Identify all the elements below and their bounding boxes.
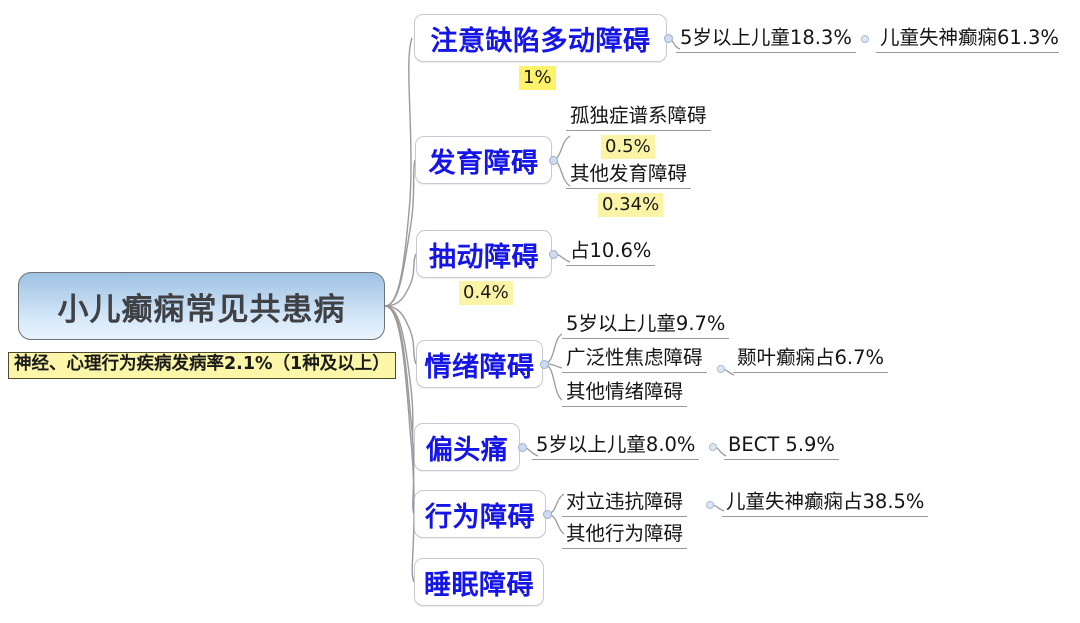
branch-label: 情绪障碍 [425,345,535,384]
branch-node-tic[interactable]: 抽动障碍 [416,230,552,278]
leaf-node[interactable]: 其他行为障碍 [562,521,687,549]
connector-dot[interactable] [518,443,527,452]
branch-node-developmental[interactable]: 发育障碍 [415,136,552,184]
branch-node-emotional[interactable]: 情绪障碍 [416,340,543,388]
leaf-node[interactable]: 其他情绪障碍 [562,379,687,407]
branch-label: 行为障碍 [425,495,535,534]
branch-node-adhd[interactable]: 注意缺陷多动障碍 [414,14,667,62]
leaf-node[interactable]: BECT 5.9% [724,432,839,460]
connector-dot[interactable] [540,360,549,369]
root-node[interactable]: 小儿癫痫常见共患病 [18,272,385,340]
badge-other-dev-rate: 0.34% [598,193,663,217]
badge-adhd-rate: 1% [519,66,556,90]
branch-node-behavioral[interactable]: 行为障碍 [414,490,546,538]
root-subtitle-badge: 神经、心理行为疾病发病率2.1%（1种及以上） [8,352,396,379]
branch-node-migraine[interactable]: 偏头痛 [414,423,520,471]
leaf-node[interactable]: 颞叶癫痫占6.7% [733,345,888,373]
branch-label: 睡眠障碍 [424,563,534,602]
leaf-node[interactable]: 孤独症谱系障碍 [566,103,711,131]
branch-label: 偏头痛 [426,428,509,467]
connector-dot[interactable] [706,501,714,509]
leaf-node[interactable]: 占10.6% [566,238,655,266]
branch-node-sleep[interactable]: 睡眠障碍 [414,558,544,606]
leaf-node[interactable]: 5岁以上儿童18.3% [676,25,856,53]
leaf-node[interactable]: 对立违抗障碍 [562,489,687,517]
leaf-node[interactable]: 5岁以上儿童8.0% [532,432,699,460]
root-title: 小儿癫痫常见共患病 [58,284,346,329]
branch-label: 发育障碍 [429,141,539,180]
mindmap-canvas: 小儿癫痫常见共患病 神经、心理行为疾病发病率2.1%（1种及以上） 注意缺陷多动… [0,0,1080,623]
badge-asd-rate: 0.5% [601,135,655,159]
connector-dot[interactable] [664,34,673,43]
leaf-node[interactable]: 其他发育障碍 [566,161,691,189]
leaf-node[interactable]: 儿童失神癫痫61.3% [876,25,1059,53]
connector-dot[interactable] [861,35,869,43]
branch-label: 注意缺陷多动障碍 [431,19,651,58]
connector-dot[interactable] [549,250,558,259]
badge-tic-rate: 0.4% [459,281,513,305]
branch-label: 抽动障碍 [429,235,539,274]
leaf-node[interactable]: 广泛性焦虑障碍 [562,345,707,373]
connector-dot[interactable] [543,510,552,519]
connector-dot[interactable] [549,156,558,165]
leaf-node[interactable]: 5岁以上儿童9.7% [562,311,729,339]
leaf-node[interactable]: 儿童失神癫痫占38.5% [722,489,928,517]
connector-dot[interactable] [717,365,725,373]
connector-dot[interactable] [709,443,717,451]
